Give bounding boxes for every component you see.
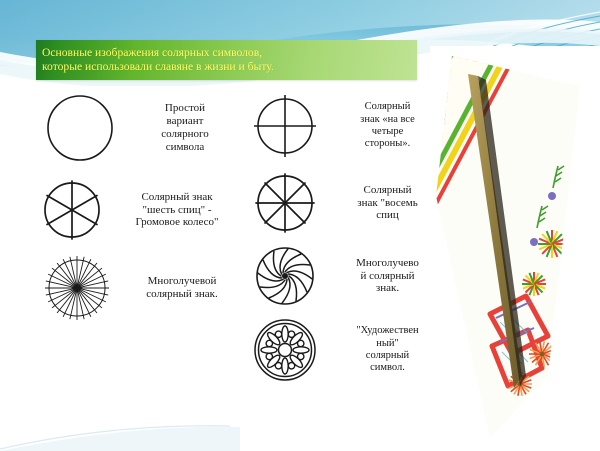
caption-line: солярного (126, 128, 244, 141)
table-row: Простой вариант солярного символа (36, 86, 246, 170)
footer-swoosh-decoration (0, 391, 600, 451)
table-row: Солярный знак "шесть спиц" - Громовое ко… (36, 170, 246, 250)
caption-line: Многолучевой (120, 275, 244, 288)
folk-art-painted-panel-photo (430, 46, 600, 446)
slide-title: Основные изображения солярных символов, … (36, 46, 278, 75)
table-row: Многолучевой солярный знак. (36, 250, 246, 326)
swirl-rosette-icon (246, 240, 324, 312)
caption-line: Солярный знак (110, 191, 244, 204)
table-row: Солярный знак «на все четыре стороны». (246, 86, 451, 166)
slide-title-banner: Основные изображения солярных символов, … (36, 40, 417, 80)
slide-title-line-2: которые использовали славяне в жизни и б… (42, 60, 274, 74)
table-row: "Художествен ный" солярный символ. (246, 312, 451, 388)
artistic-rosette-icon (246, 312, 324, 388)
caption-line: Простой (126, 102, 244, 115)
six-spoke-wheel-icon (36, 170, 108, 250)
many-rayed-wheel-icon (36, 250, 118, 326)
table-row: Солярный знак "восемь спиц (246, 166, 451, 240)
caption-line: солярный знак. (120, 288, 244, 301)
caption-line: "шесть спиц" - (110, 204, 244, 217)
symbol-caption: Многолучевой солярный знак. (118, 275, 246, 301)
eight-spoke-wheel-icon (246, 166, 324, 240)
caption-line: вариант (126, 115, 244, 128)
symbols-table-right: Солярный знак «на все четыре стороны». (246, 86, 451, 388)
table-row: Многолучево й солярный знак. (246, 240, 451, 312)
caption-line: Громовое колесо" (110, 216, 244, 229)
four-direction-cross-icon (246, 86, 324, 166)
symbols-table-left: Простой вариант солярного символа Сол (36, 86, 246, 326)
plain-circle-icon (36, 86, 124, 170)
slide-title-line-1: Основные изображения солярных символов, (42, 46, 274, 60)
symbol-caption: Солярный знак "шесть спиц" - Громовое ко… (108, 191, 246, 230)
symbol-caption: Простой вариант солярного символа (124, 102, 246, 154)
caption-line: символа (126, 141, 244, 154)
presentation-slide: Основные изображения солярных символов, … (0, 0, 600, 451)
